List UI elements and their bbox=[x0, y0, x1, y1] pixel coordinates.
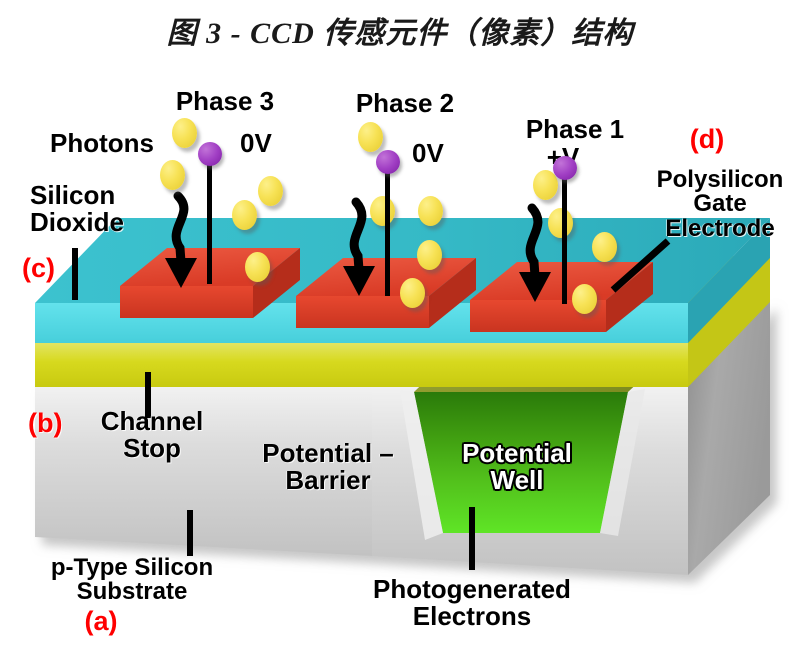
label-photons: Photons bbox=[50, 130, 154, 157]
gate-stem-phase-3 bbox=[207, 162, 212, 284]
label-silicon-dioxide: Silicon Dioxide bbox=[30, 182, 124, 235]
photon bbox=[592, 232, 617, 262]
gate-stem-phase-2 bbox=[385, 170, 390, 296]
label-phase-2: Phase 2 bbox=[330, 90, 480, 117]
label-marker-b: (b) bbox=[28, 410, 62, 438]
label-marker-c: (c) bbox=[22, 255, 55, 283]
label-photogenerated-electrons: Photogenerated Electrons bbox=[332, 576, 612, 629]
gate-contact-dot-phase-2 bbox=[376, 150, 400, 174]
photon bbox=[418, 196, 443, 226]
gate-contact-dot-phase-3 bbox=[198, 142, 222, 166]
label-phase-2-voltage: 0V bbox=[412, 140, 444, 167]
label-phase-1: Phase 1 bbox=[505, 116, 645, 143]
page-title: 图 3 - CCD 传感元件（像素）结构 bbox=[0, 8, 800, 52]
photon bbox=[258, 176, 283, 206]
photon bbox=[172, 118, 197, 148]
label-potential-well: Potential Well bbox=[432, 440, 602, 493]
photon bbox=[417, 240, 442, 270]
ccd-diagram: 图 3 - CCD 传感元件（像素）结构 bbox=[0, 0, 800, 658]
photon bbox=[160, 160, 185, 190]
photon bbox=[370, 196, 395, 226]
photon bbox=[572, 284, 597, 314]
gate-contact-dot-phase-1 bbox=[553, 156, 577, 180]
label-phase-3-voltage: 0V bbox=[240, 130, 272, 157]
photon bbox=[245, 252, 270, 282]
label-channel-stop: Channel Stop bbox=[82, 408, 222, 461]
label-polysilicon-gate-electrode: Polysilicon Gate Electrode bbox=[640, 168, 800, 241]
label-phase-3: Phase 3 bbox=[150, 88, 300, 115]
label-substrate: p-Type Silicon Substrate bbox=[12, 556, 252, 605]
gate-stem-phase-1 bbox=[562, 176, 567, 304]
label-potential-barrier: Potential – Barrier bbox=[238, 440, 418, 493]
photon bbox=[548, 208, 573, 238]
photon bbox=[358, 122, 383, 152]
label-marker-a: (a) bbox=[66, 608, 136, 636]
photon bbox=[400, 278, 425, 308]
label-marker-d: (d) bbox=[672, 126, 742, 154]
photon bbox=[232, 200, 257, 230]
